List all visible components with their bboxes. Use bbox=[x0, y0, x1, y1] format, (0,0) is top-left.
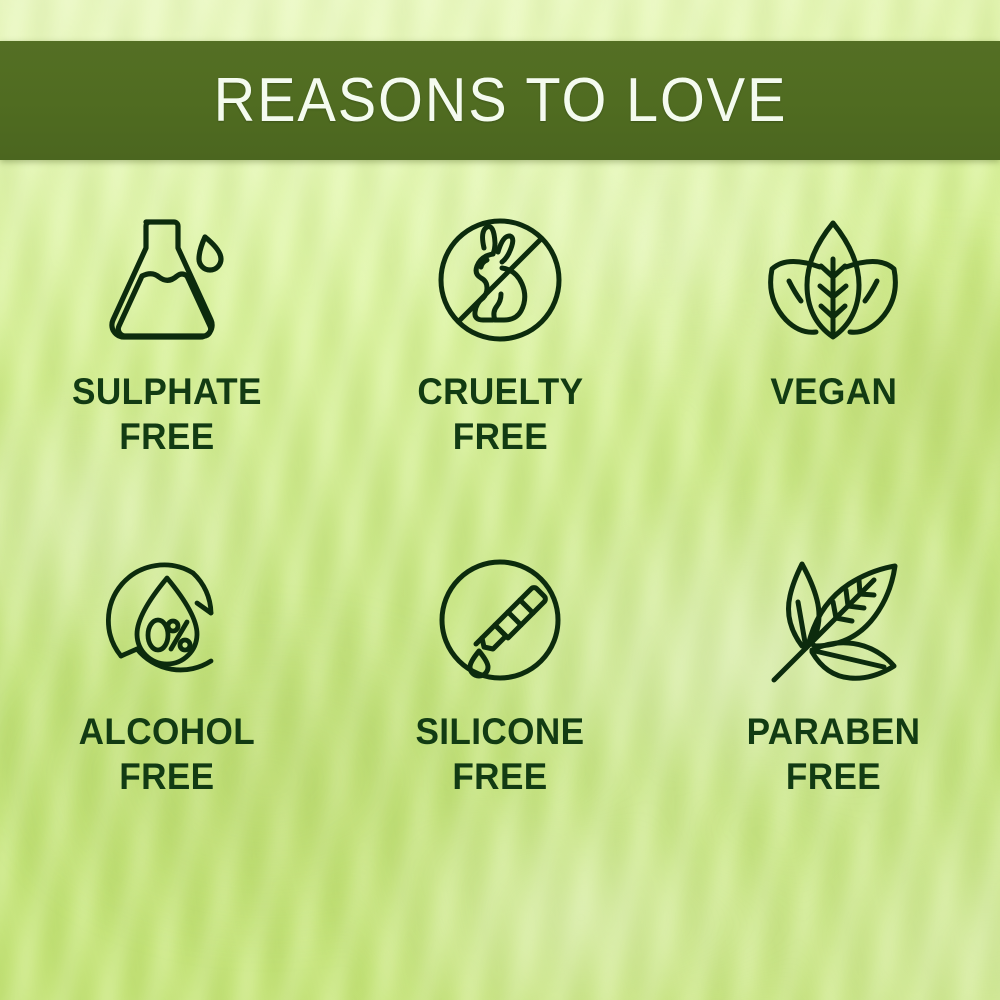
feature-item-silicone-free: SILICONE FREE bbox=[333, 545, 666, 885]
feature-label-line1: VEGAN bbox=[770, 371, 897, 412]
feature-label: SILICONE FREE bbox=[415, 709, 584, 799]
leaf-sprig-icon bbox=[762, 545, 904, 695]
feature-label: VEGAN bbox=[770, 369, 897, 414]
feature-label-line2: FREE bbox=[72, 414, 262, 459]
feature-label-line1: PARABEN bbox=[746, 711, 920, 752]
three-leaves-vegan-icon bbox=[763, 205, 903, 355]
feature-label: SULPHATE FREE bbox=[72, 369, 262, 459]
feature-grid: SULPHATE FREE bbox=[0, 205, 1000, 885]
promo-graphic: REASONS TO LOVE SULPHATE FREE bbox=[0, 0, 1000, 1000]
no-animal-testing-rabbit-icon bbox=[432, 205, 568, 355]
header-banner: REASONS TO LOVE bbox=[0, 41, 1000, 160]
feature-label: PARABEN FREE bbox=[746, 709, 920, 799]
feature-label-line1: ALCOHOL bbox=[78, 711, 254, 752]
feature-label-line2: FREE bbox=[415, 754, 584, 799]
feature-label-line2: FREE bbox=[78, 754, 254, 799]
feature-label-line1: CRUELTY bbox=[417, 371, 583, 412]
feature-label-line2: FREE bbox=[417, 414, 583, 459]
feature-item-cruelty-free: CRUELTY FREE bbox=[333, 205, 666, 545]
dropper-pipette-circle-icon bbox=[434, 545, 566, 695]
feature-item-vegan: VEGAN bbox=[667, 205, 1000, 545]
flask-droplet-icon bbox=[102, 205, 232, 355]
feature-label: CRUELTY FREE bbox=[417, 369, 583, 459]
feature-label-line2: FREE bbox=[746, 754, 920, 799]
feature-label: ALCOHOL FREE bbox=[78, 709, 254, 799]
feature-label-line1: SILICONE bbox=[415, 711, 584, 752]
page-title: REASONS TO LOVE bbox=[213, 65, 787, 136]
feature-item-sulphate-free: SULPHATE FREE bbox=[0, 205, 333, 545]
feature-item-alcohol-free: ALCOHOL FREE bbox=[0, 545, 333, 885]
zero-percent-droplet-icon bbox=[101, 545, 233, 695]
feature-label-line1: SULPHATE bbox=[72, 371, 262, 412]
feature-item-paraben-free: PARABEN FREE bbox=[667, 545, 1000, 885]
